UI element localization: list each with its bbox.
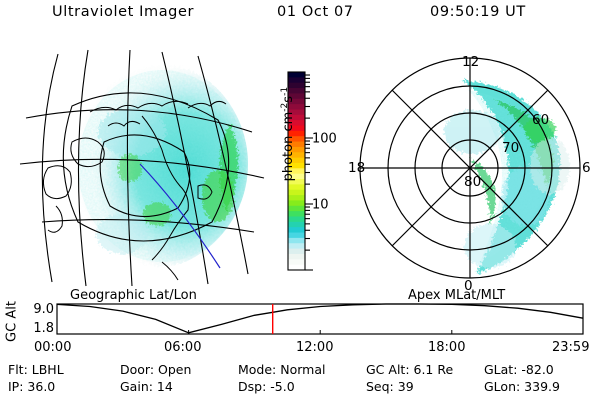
colorbar-label-mid: s [281, 96, 296, 103]
uvi-display: Ultraviolet Imager 01 Oct 07 09:50:19 UT [0, 0, 600, 400]
mlt-label-6: 6 [582, 160, 591, 176]
status-mode: Mode: Normal [238, 362, 325, 377]
mlat-label-70: 70 [502, 140, 519, 156]
colorbar-axis-label: photon cm-2s-1 [280, 54, 296, 214]
status-glat: GLat: -82.0 [484, 362, 554, 377]
geographic-image-panel [12, 46, 268, 290]
orbit-ytick-high: 9.0 [22, 302, 54, 317]
status-flt: Flt: LBHL [8, 362, 64, 377]
mlt-label-18: 18 [348, 160, 365, 176]
geographic-disk-svg [12, 46, 268, 290]
observation-time: 09:50:19 UT [430, 4, 526, 20]
orbit-altitude-line [57, 304, 583, 333]
header-bar: Ultraviolet Imager 01 Oct 07 09:50:19 UT [0, 4, 600, 28]
mlt-label-12: 12 [462, 54, 479, 70]
status-glon: GLon: 339.9 [484, 379, 560, 394]
colorbar-svg: 100 10 [262, 58, 342, 288]
orbit-title-left: Geographic Lat/Lon [70, 288, 197, 303]
colorbar-label-exp1: -2 [280, 103, 290, 112]
colorbar-label-main: photon cm [281, 112, 296, 182]
mlat-label-60: 60 [532, 112, 549, 128]
orbit-xtick-1: 06:00 [164, 340, 201, 355]
instrument-title: Ultraviolet Imager [52, 4, 194, 20]
orbit-altitude-plot: Geographic Lat/Lon Apex MLat/MLT GC Alt … [0, 288, 600, 354]
status-door: Door: Open [120, 362, 191, 377]
orbit-ytick-low: 1.8 [22, 321, 54, 336]
status-gcalt: GC Alt: 6.1 Re [366, 362, 453, 377]
orbit-y-axis-label: GC Alt [5, 299, 20, 345]
mlt-dial-svg: 12 18 6 0 60 70 80 [344, 46, 596, 294]
status-footer: Flt: LBHL IP: 36.0 Door: Open Gain: 14 M… [0, 362, 600, 400]
orbit-xtick-4: 23:59 [552, 340, 589, 355]
status-seq: Seq: 39 [366, 379, 414, 394]
mlat-label-80: 80 [464, 174, 481, 190]
colorbar-label-exp2: -1 [280, 87, 290, 96]
status-gain: Gain: 14 [120, 379, 173, 394]
orbit-xtick-3: 18:00 [428, 340, 465, 355]
status-dsp: Dsp: -5.0 [238, 379, 295, 394]
status-ip: IP: 36.0 [8, 379, 55, 394]
colorbar-ticks [305, 75, 313, 270]
orbit-xtick-0: 00:00 [34, 340, 71, 355]
orbit-xtick-2: 12:00 [296, 340, 333, 355]
orbit-x-ticks [57, 330, 583, 334]
colorbar-tick-label-100: 100 [312, 132, 337, 147]
orbit-title-right: Apex MLat/MLT [408, 288, 505, 303]
colorbar-panel: photon cm-2s-1 100 10 [262, 58, 342, 288]
colorbar-tick-label-10: 10 [312, 198, 329, 213]
mlt-dial-grid [360, 58, 580, 278]
apex-mlat-mlt-panel: 12 18 6 0 60 70 80 [344, 46, 596, 294]
observation-date: 01 Oct 07 [277, 4, 354, 20]
